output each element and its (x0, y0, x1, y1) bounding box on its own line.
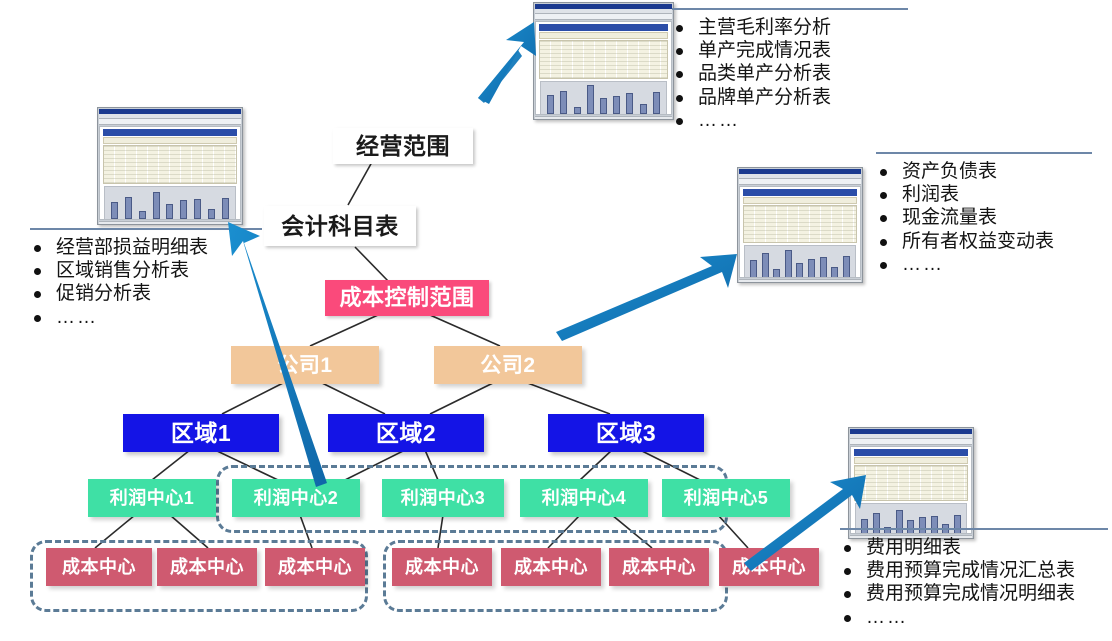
report-thumbnail-financial[interactable] (737, 167, 863, 283)
list-item: 费用明细表 (840, 536, 1108, 559)
thumbnail-statusbar (99, 221, 241, 225)
node-cost-center-4[interactable]: 成本中心 (392, 548, 492, 586)
callout-item-list: 主营毛利率分析 单产完成情况表 品类单产分析表 品牌单产分析表 …… (672, 16, 908, 132)
node-cost-center-5[interactable]: 成本中心 (501, 548, 601, 586)
node-label: 利润中心2 (254, 489, 339, 507)
thumbnail-toolbar (850, 439, 972, 445)
node-label: 成本中心 (170, 558, 244, 576)
callout-top-left: 经营部损益明细表 区域销售分析表 促销分析表 …… (30, 228, 262, 329)
list-item: 资产负债表 (876, 160, 1092, 183)
thumbnail-bar-chart (104, 186, 236, 220)
node-label: 经营范围 (356, 135, 450, 158)
callout-bottom-right: 费用明细表 费用预算完成情况汇总表 费用预算完成情况明细表 …… (840, 528, 1108, 629)
node-profit-center-5[interactable]: 利润中心5 (662, 479, 790, 517)
node-label: 公司1 (277, 355, 332, 376)
node-profit-center-2[interactable]: 利润中心2 (232, 479, 360, 517)
node-profit-center-3[interactable]: 利润中心3 (382, 479, 504, 517)
node-region-3[interactable]: 区域3 (548, 414, 704, 452)
callout-item-list: 资产负债表 利润表 现金流量表 所有者权益变动表 …… (876, 160, 1092, 276)
list-item: 经营部损益明细表 (30, 236, 262, 259)
callout-mid-right: 资产负债表 利润表 现金流量表 所有者权益变动表 …… (876, 152, 1092, 276)
node-cost-center-3[interactable]: 成本中心 (265, 548, 365, 586)
node-label: 成本控制范围 (339, 287, 474, 309)
report-thumbnail-sales[interactable] (97, 107, 243, 225)
callout-rule (672, 8, 908, 10)
node-label: 区域3 (596, 422, 656, 445)
list-item: 区域销售分析表 (30, 259, 262, 282)
thumbnail-report-body (99, 126, 241, 220)
report-thumbnail-expense[interactable] (848, 427, 974, 539)
list-item: 现金流量表 (876, 206, 1092, 229)
thumbnail-toolbar (535, 14, 672, 20)
callout-top-right: 主营毛利率分析 单产完成情况表 品类单产分析表 品牌单产分析表 …… (672, 8, 908, 132)
node-profit-center-4[interactable]: 利润中心4 (520, 479, 648, 517)
thumbnail-statusbar (535, 116, 672, 120)
node-label: 会计科目表 (281, 215, 399, 238)
node-label: 成本中心 (732, 558, 806, 576)
node-label: 利润中心5 (684, 489, 769, 507)
list-item: 主营毛利率分析 (672, 16, 908, 39)
thumbnail-data-table (103, 145, 237, 184)
callout-item-list: 经营部损益明细表 区域销售分析表 促销分析表 …… (30, 236, 262, 329)
callout-rule (876, 152, 1092, 154)
thumbnail-bar-chart (540, 81, 667, 115)
thumbnail-report-filter (743, 197, 857, 204)
list-item: 所有者权益变动表 (876, 230, 1092, 253)
thumbnail-toolbar (739, 179, 861, 185)
thumbnail-report-title (103, 129, 237, 136)
list-item: 品牌单产分析表 (672, 86, 908, 109)
node-cost-center-2[interactable]: 成本中心 (157, 548, 257, 586)
thumbnail-bar-chart (744, 245, 856, 278)
thumbnail-statusbar (739, 279, 861, 283)
node-label: 利润中心4 (542, 489, 627, 507)
node-region-1[interactable]: 区域1 (123, 414, 279, 452)
node-label: 公司2 (480, 355, 535, 376)
thumbnail-report-title (854, 449, 968, 456)
list-item: 利润表 (876, 183, 1092, 206)
arrow-to-margin-report (478, 22, 536, 104)
thumbnail-toolbar (99, 119, 241, 125)
node-chart-of-accounts[interactable]: 会计科目表 (264, 206, 416, 246)
node-company-1[interactable]: 公司1 (231, 346, 379, 384)
thumbnail-data-table (539, 40, 668, 79)
node-label: 成本中心 (405, 558, 479, 576)
list-item: …… (672, 109, 908, 132)
thumbnail-report-title (539, 24, 668, 31)
node-region-2[interactable]: 区域2 (328, 414, 484, 452)
node-label: 区域2 (376, 422, 436, 445)
thumbnail-data-table (743, 205, 857, 243)
thumbnail-report-filter (103, 137, 237, 144)
thumbnail-report-title (743, 189, 857, 196)
callout-item-list: 费用明细表 费用预算完成情况汇总表 费用预算完成情况明细表 …… (840, 536, 1108, 629)
thumbnail-report-body (850, 446, 972, 534)
node-label: 区域1 (171, 422, 231, 445)
node-label: 成本中心 (622, 558, 696, 576)
node-label: 成本中心 (62, 558, 136, 576)
arrow-to-financial-report (556, 254, 737, 341)
callout-rule (30, 228, 262, 230)
list-item: …… (876, 253, 1092, 276)
list-item: 费用预算完成情况汇总表 (840, 559, 1108, 582)
node-cost-center-1[interactable]: 成本中心 (46, 548, 152, 586)
node-profit-center-1[interactable]: 利润中心1 (88, 479, 216, 517)
list-item: 促销分析表 (30, 282, 262, 305)
thumbnail-report-body (535, 21, 672, 115)
thumbnail-report-filter (539, 32, 668, 39)
report-thumbnail-margin[interactable] (533, 2, 674, 120)
callout-rule (840, 528, 1108, 530)
node-label: 成本中心 (278, 558, 352, 576)
list-item: 品类单产分析表 (672, 62, 908, 85)
thumbnail-report-body (739, 186, 861, 278)
node-label: 利润中心1 (110, 489, 195, 507)
node-business-scope[interactable]: 经营范围 (333, 128, 473, 164)
node-label: 利润中心3 (401, 489, 486, 507)
node-cost-center-7[interactable]: 成本中心 (719, 548, 819, 586)
list-item: 费用预算完成情况明细表 (840, 582, 1108, 605)
thumbnail-data-table (854, 465, 968, 501)
thumbnail-report-filter (854, 457, 968, 464)
list-item: …… (840, 606, 1108, 629)
node-cost-control-scope[interactable]: 成本控制范围 (325, 280, 489, 316)
list-item: 单产完成情况表 (672, 39, 908, 62)
node-label: 成本中心 (514, 558, 588, 576)
node-cost-center-6[interactable]: 成本中心 (609, 548, 709, 586)
list-item: …… (30, 306, 262, 329)
node-company-2[interactable]: 公司2 (434, 346, 582, 384)
diagram-canvas: 经营部损益明细表 区域销售分析表 促销分析表 …… 主营毛利率分析 单产完成情况… (0, 0, 1112, 641)
